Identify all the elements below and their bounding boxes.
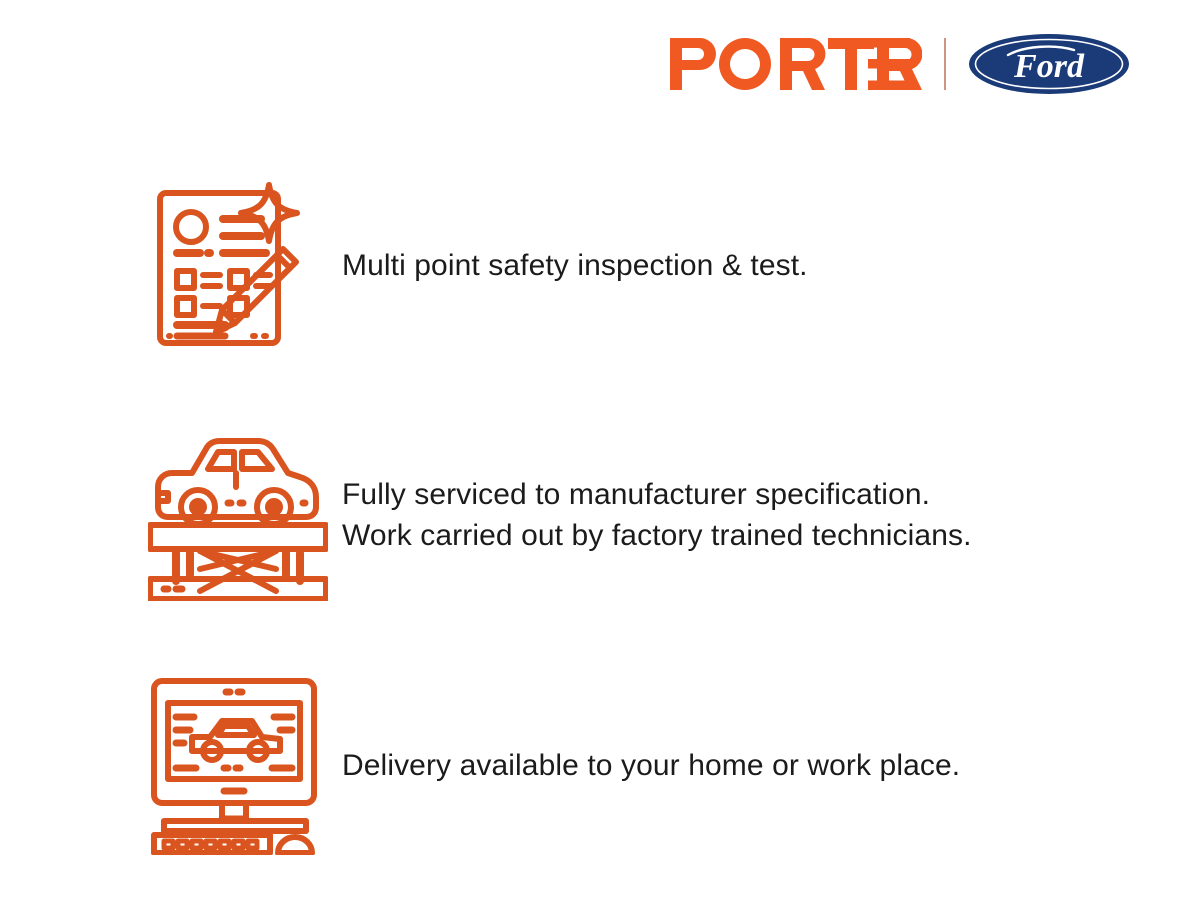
- feature-row: Delivery available to your home or work …: [140, 640, 1140, 890]
- feature-list: Multi point safety inspection & test.: [140, 140, 1140, 890]
- feature-row: Fully serviced to manufacturer specifica…: [140, 390, 1140, 640]
- feature-text: Fully serviced to manufacturer specifica…: [330, 474, 1140, 556]
- brand-header: Ford: [670, 30, 1130, 98]
- ford-script-text: Ford: [1013, 48, 1085, 85]
- ford-logo-svg: Ford: [968, 33, 1130, 95]
- feature-text: Delivery available to your home or work …: [330, 745, 1140, 786]
- porter-wordmark: [670, 38, 922, 90]
- brand-divider: [944, 38, 946, 90]
- monitor-car-delivery-icon: [140, 675, 330, 855]
- porter-logo-svg: [670, 38, 922, 90]
- car-on-lift-icon: [140, 429, 330, 601]
- feature-text: Multi point safety inspection & test.: [330, 245, 1140, 286]
- feature-row: Multi point safety inspection & test.: [140, 140, 1140, 390]
- checklist-pencil-sparkle-icon: [140, 179, 330, 351]
- ford-oval-logo: Ford: [968, 33, 1130, 95]
